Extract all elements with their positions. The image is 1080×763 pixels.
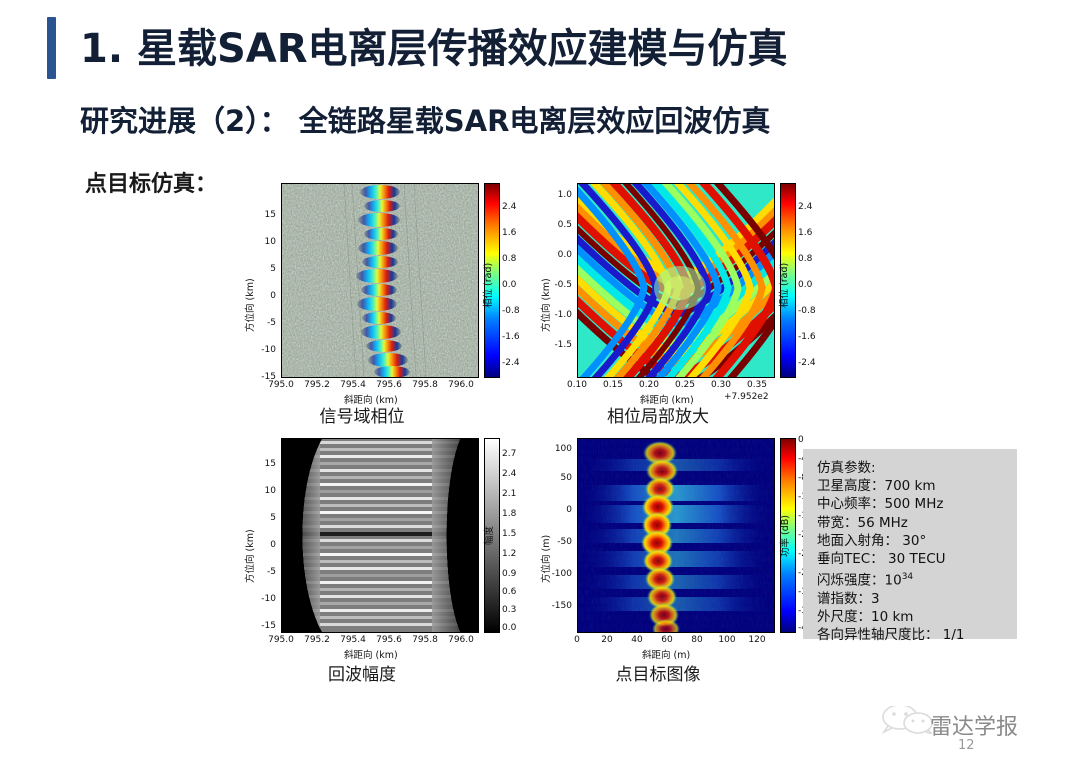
- colorbar-tick: 2.4: [502, 469, 516, 479]
- axis-tick: 10: [232, 237, 276, 247]
- figure-point-target-image: -150 -100 -50 0 50 100 方位向 (m): [528, 435, 818, 685]
- colorbar-tick: -0.8: [798, 306, 816, 316]
- param-line-bandwidth: 带宽：56 MHz: [817, 514, 1017, 532]
- param-line-title: 仿真参数:: [817, 459, 1017, 477]
- plot-area-echo-amplitude: [281, 438, 479, 633]
- colorbar-label: 相位 (rad): [776, 263, 790, 308]
- colorbar-tick: 2.1: [502, 489, 516, 499]
- axis-tick: 15: [232, 459, 276, 469]
- colorbar-tick: 0.8: [502, 254, 516, 264]
- colorbar-tick: 1.8: [502, 509, 516, 519]
- axis-tick: 796.0: [437, 635, 485, 645]
- colorbar-tick: 1.5: [502, 529, 516, 539]
- colorbar-tick: 0.9: [502, 569, 516, 579]
- section-label: 点目标仿真：: [85, 166, 217, 198]
- x-axis-title: 斜距向 (km): [344, 647, 398, 661]
- colorbar-tick: -1.6: [502, 332, 520, 342]
- page-number: 12: [958, 738, 975, 753]
- axis-tick: -10: [232, 345, 276, 355]
- colorbar-tick: -2.4: [502, 358, 520, 368]
- colorbar-tick: 0.0: [502, 623, 516, 633]
- figure-echo-amplitude: -15 -10 -5 0 5 10 15 方位向 (km): [232, 435, 522, 685]
- param-line-tec: 垂向TEC： 30 TECU: [817, 550, 1017, 568]
- colorbar-tick: 0.0: [798, 280, 812, 290]
- axis-tick: 796.0: [437, 380, 485, 390]
- figure-caption: 点目标图像: [528, 660, 788, 685]
- figure-caption: 信号域相位: [232, 402, 492, 427]
- axis-tick: -15: [232, 621, 276, 631]
- axis-tick: 15: [232, 210, 276, 220]
- param-line-incidence: 地面入射角： 30°: [817, 532, 1017, 550]
- param-line-altitude: 卫星高度：700 km: [817, 477, 1017, 495]
- x-axis-offset-text: +7.952e2: [724, 392, 769, 402]
- colorbar-label: 功率 (dB): [777, 515, 791, 557]
- colorbar-tick: 0: [798, 435, 804, 445]
- scintillation-exponent: 34: [902, 572, 913, 582]
- title-accent-bar: [47, 17, 56, 79]
- axis-tick: 120: [735, 635, 779, 645]
- figure-signal-domain-phase: -15 -10 -5 0 5 10 15 方位向 (km): [232, 180, 522, 420]
- param-line-outer-scale: 外尺度：10 km: [817, 608, 1017, 626]
- y-axis-title: 方位向 (m): [538, 535, 552, 583]
- x-axis-title: 斜距向 (m): [642, 647, 690, 661]
- colorbar-tick: 1.6: [798, 228, 812, 238]
- page-subtitle: 研究进展（2）： 全链路星载SAR电离层效应回波仿真: [80, 98, 770, 140]
- plot-area-point-target: [577, 438, 775, 633]
- footer-brand: 雷达学报: [930, 709, 1018, 741]
- figure-caption: 回波幅度: [232, 660, 492, 685]
- axis-tick: 0.0: [528, 250, 572, 260]
- colorbar-tick: 1.6: [502, 228, 516, 238]
- axis-tick: -150: [528, 601, 572, 611]
- axis-tick: 5: [232, 513, 276, 523]
- colorbar-tick: 2.4: [798, 202, 812, 212]
- colorbar-tick: 0.3: [502, 605, 516, 615]
- y-axis-title: 方位向 (km): [242, 278, 256, 332]
- axis-tick: 50: [528, 473, 572, 483]
- colorbar-tick: -2.4: [798, 358, 816, 368]
- colorbar-tick: 1.2: [502, 549, 516, 559]
- y-axis-title: 方位向 (km): [242, 529, 256, 583]
- figure-caption: 相位局部放大: [528, 402, 788, 427]
- scintillation-label: 闪烁强度：10: [817, 573, 902, 589]
- slide-header: 1. 星载SAR电离层传播效应建模与仿真 研究进展（2）： 全链路星载SAR电离…: [0, 0, 1080, 150]
- axis-tick: 5: [232, 264, 276, 274]
- param-line-anisotropy: 各向异性轴尺度比： 1/1: [817, 626, 1017, 644]
- param-line-spectral-index: 谱指数：3: [817, 590, 1017, 608]
- axis-tick: 10: [232, 486, 276, 496]
- page-title: 1. 星载SAR电离层传播效应建模与仿真: [80, 16, 788, 74]
- figure-phase-zoom: -1.5 -1.0 -0.5 0.0 0.5 1.0 方位向 (km): [528, 180, 818, 420]
- colorbar-label: 相位 (rad): [480, 263, 494, 308]
- colorbar-tick: 2.4: [502, 202, 516, 212]
- colorbar-tick: 0.0: [502, 280, 516, 290]
- axis-tick: 100: [528, 444, 572, 454]
- colorbar-label: 幅度: [481, 526, 495, 545]
- axis-tick: 0: [528, 505, 572, 515]
- colorbar-tick: 0.6: [502, 587, 516, 597]
- axis-tick: 0.35: [733, 380, 781, 390]
- param-line-frequency: 中心频率：500 MHz: [817, 495, 1017, 513]
- plot-area-signal-domain-phase: [281, 183, 479, 378]
- axis-tick: -1.5: [528, 340, 572, 350]
- plot-area-phase-zoom: [577, 183, 775, 378]
- param-line-scintillation: 闪烁强度：1034: [817, 568, 1017, 590]
- axis-tick: 1.0: [528, 190, 572, 200]
- simulation-parameters-panel: 仿真参数: 卫星高度：700 km 中心频率：500 MHz 带宽：56 MHz…: [803, 449, 1017, 639]
- axis-tick: -10: [232, 594, 276, 604]
- colorbar-tick: -1.6: [798, 332, 816, 342]
- colorbar-tick: -0.8: [502, 306, 520, 316]
- y-axis-title: 方位向 (km): [538, 278, 552, 332]
- axis-tick: 0.5: [528, 220, 572, 230]
- colorbar-tick: 2.7: [502, 449, 516, 459]
- colorbar-tick: 0.8: [798, 254, 812, 264]
